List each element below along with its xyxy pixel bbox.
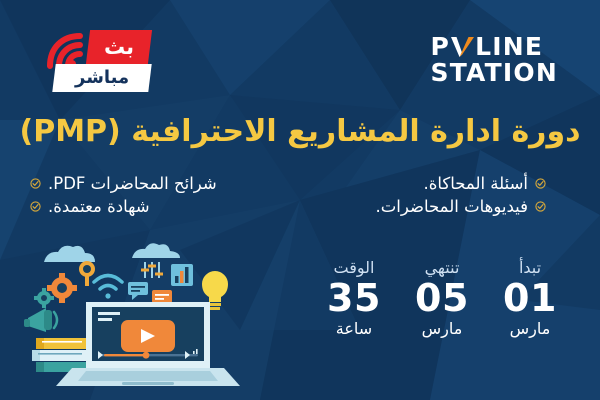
schedule-start: تبدأ 01 مارس — [486, 258, 574, 339]
live-badge-bottom-text: مباشر — [75, 69, 129, 87]
elearning-laptop-illustration — [14, 240, 264, 390]
feature-label: شهادة معتمدة. — [48, 197, 150, 216]
brand-line-2: STATION — [431, 60, 558, 86]
schedule-value: 01 — [486, 278, 574, 319]
schedule-end: تنتهي 05 مارس — [398, 258, 486, 339]
brand-m-check-icon — [451, 37, 474, 57]
list-item: شهادة معتمدة. — [30, 195, 300, 218]
schedule-value: 35 — [310, 278, 398, 319]
list-item: أسئلة المحاكاة. — [300, 172, 570, 195]
list-item: شرائح المحاضرات PDF. — [30, 172, 300, 195]
feature-label: فيديوهات المحاضرات. — [376, 197, 528, 216]
megaphone-icon — [24, 308, 57, 332]
play-button-icon — [121, 320, 175, 352]
page-title: دورة ادارة المشاريع الاحترافية (PMP) — [0, 114, 600, 149]
schedule-value: 05 — [398, 278, 486, 319]
bar-chart-icon — [171, 264, 193, 286]
gear-icon — [34, 273, 77, 308]
books-stack — [32, 338, 92, 372]
course-promo-banner: بث مباشر P LINE STATION دورة ادارة المشا… — [0, 0, 600, 400]
live-badge-top: بث — [86, 30, 152, 64]
check-circle-icon — [535, 201, 546, 212]
live-badge-bottom: مباشر — [52, 64, 151, 92]
feature-label: شرائح المحاضرات PDF. — [48, 174, 217, 193]
cloud-icon — [44, 243, 180, 262]
schedule-label: الوقت — [310, 258, 398, 278]
check-circle-icon — [30, 178, 41, 189]
schedule-label: تبدأ — [486, 258, 574, 278]
brand-p: P — [431, 34, 451, 60]
wifi-icon — [94, 276, 122, 299]
schedule-unit: مارس — [486, 319, 574, 339]
schedule-duration: الوقت 35 ساعة — [310, 258, 398, 339]
brand-line-1: P LINE — [431, 34, 558, 60]
live-broadcast-badge: بث مباشر — [42, 26, 154, 100]
brand-logo: P LINE STATION — [431, 34, 558, 85]
schedule-unit: ساعة — [310, 319, 398, 339]
schedule-label: تنتهي — [398, 258, 486, 278]
check-circle-icon — [30, 201, 41, 212]
check-circle-icon — [535, 178, 546, 189]
sliders-icon — [141, 262, 163, 278]
feature-label: أسئلة المحاكاة. — [423, 174, 528, 193]
live-badge-top-text: بث — [104, 37, 134, 58]
brand-line-after: LINE — [475, 34, 543, 60]
list-item: فيديوهات المحاضرات. — [300, 195, 570, 218]
schedule-block: تبدأ 01 مارس تنتهي 05 مارس الوقت 35 ساعة — [310, 258, 574, 339]
features-list: أسئلة المحاكاة. شرائح المحاضرات PDF. فيد… — [30, 172, 570, 218]
schedule-unit: مارس — [398, 319, 486, 339]
